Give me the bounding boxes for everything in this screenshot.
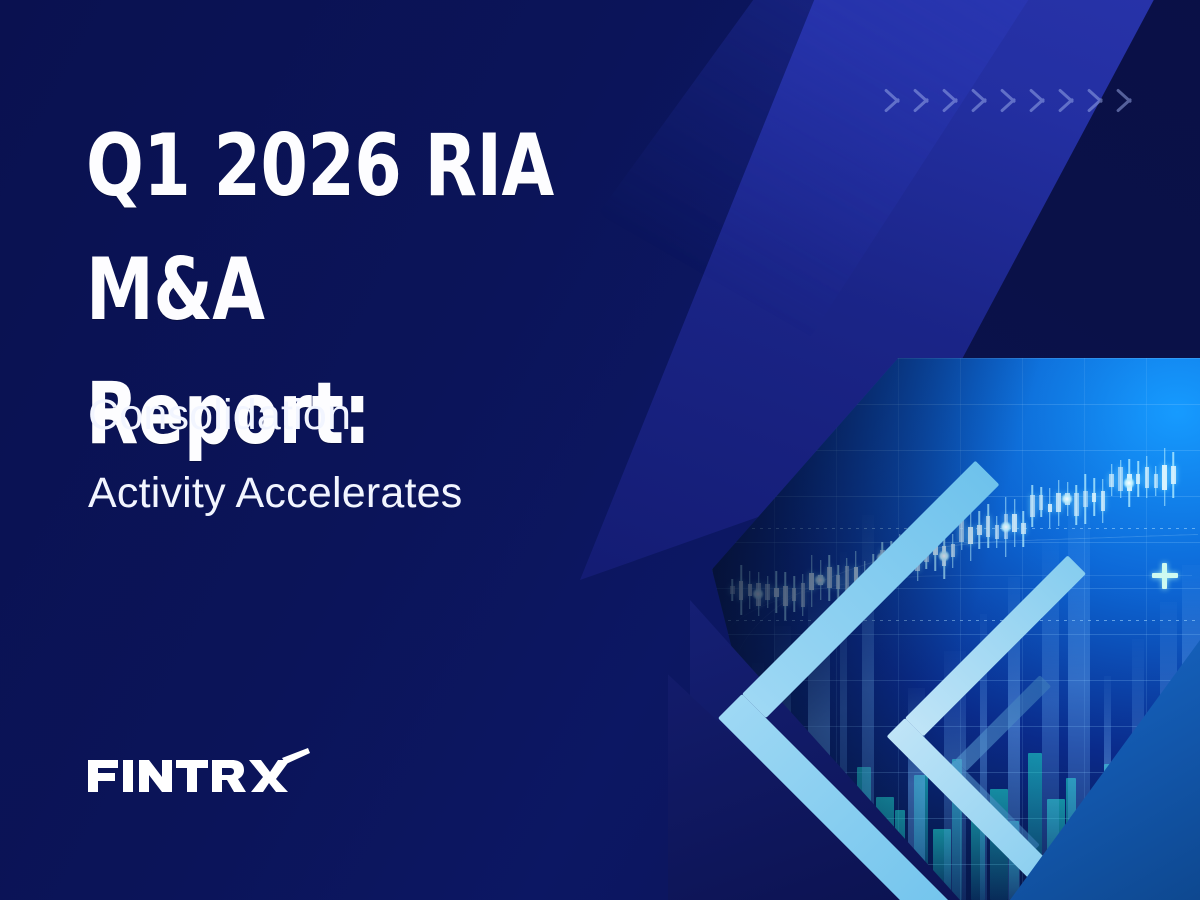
fintrx-wordmark-logo	[86, 748, 310, 800]
chevron-right-icon	[1058, 78, 1078, 122]
chevron-right-icon	[1029, 78, 1049, 122]
chevron-right-icon	[1000, 78, 1020, 122]
chevron-right-icon	[913, 78, 933, 122]
hero-banner: Q1 2026 RIA M&A Report: Consolidation Ac…	[0, 0, 1200, 900]
chevron-right-icon-row	[884, 78, 1136, 122]
chevron-right-icon	[884, 78, 904, 122]
page-subtitle: Consolidation Activity Accelerates	[88, 376, 728, 532]
plus-marker-icon	[1152, 563, 1178, 589]
chevron-right-icon	[942, 78, 962, 122]
chevron-left-icon-large	[742, 694, 1072, 900]
chevron-right-icon	[971, 78, 991, 122]
chevron-right-icon	[1087, 78, 1107, 122]
chevron-stroke	[718, 694, 975, 900]
chevron-right-icon	[1116, 78, 1136, 122]
